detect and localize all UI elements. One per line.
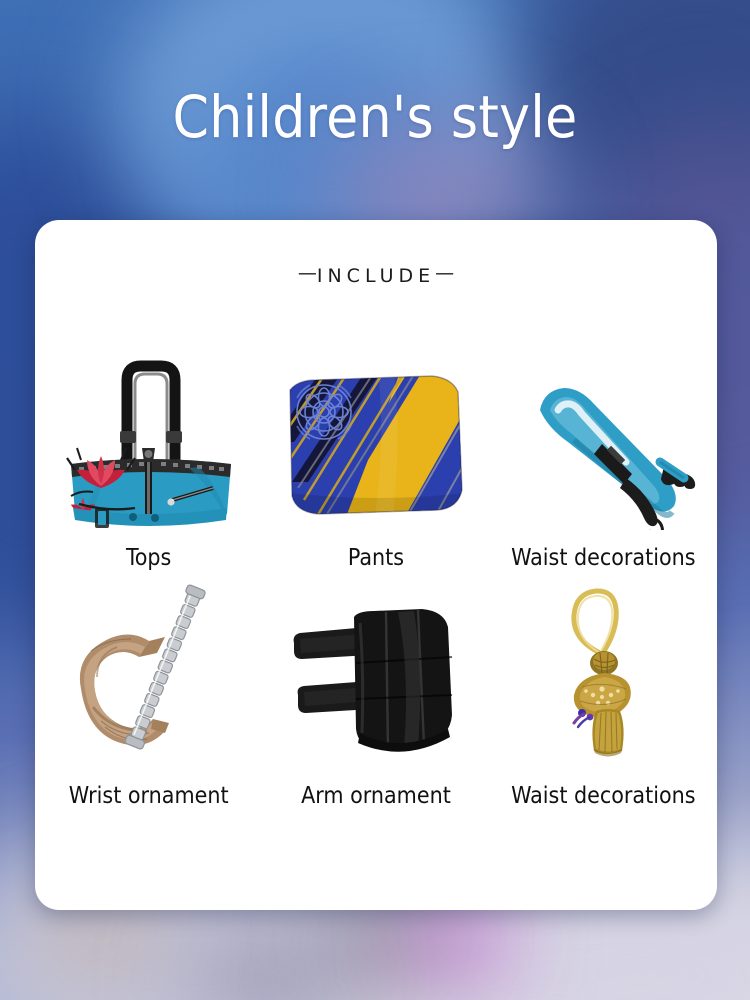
include-card: —INCLUDE— [35,220,717,910]
item-label: Tops [35,545,262,571]
item-label: Waist decorations [490,783,717,809]
page-title: Children's style [0,88,750,146]
item-cell-arm-ornament[interactable]: Arm ornament [262,571,489,809]
item-cell-tops[interactable]: Tops [35,328,262,571]
items-grid: Tops [35,328,717,809]
items-row: Tops [35,328,717,571]
item-image-wrist-ornament [35,571,262,781]
dash-left: — [298,262,317,284]
section-header: —INCLUDE— [35,262,717,287]
item-cell-pants[interactable]: Pants [262,328,489,571]
item-image-pants [262,328,489,543]
item-label: Waist decorations [490,545,717,571]
item-label: Pants [262,545,489,571]
item-image-tops [35,328,262,543]
background-blur-blob [415,905,505,975]
item-label: Wrist ornament [35,783,262,809]
item-image-arm-ornament [262,571,489,781]
background-blur-blob [40,905,160,965]
product-listing-image: Children's style —INCLUDE— [0,0,750,1000]
items-row: Wrist ornament [35,571,717,809]
dash-right: — [435,262,454,284]
item-cell-waist-decorations-1[interactable]: Waist decorations [490,328,717,571]
item-image-waist-sash [490,328,717,543]
item-label: Arm ornament [262,783,489,809]
item-image-tassel [490,571,717,781]
item-cell-wrist-ornament[interactable]: Wrist ornament [35,571,262,809]
section-header-label: INCLUDE [317,265,435,287]
item-cell-waist-decorations-2[interactable]: Waist decorations [490,571,717,809]
